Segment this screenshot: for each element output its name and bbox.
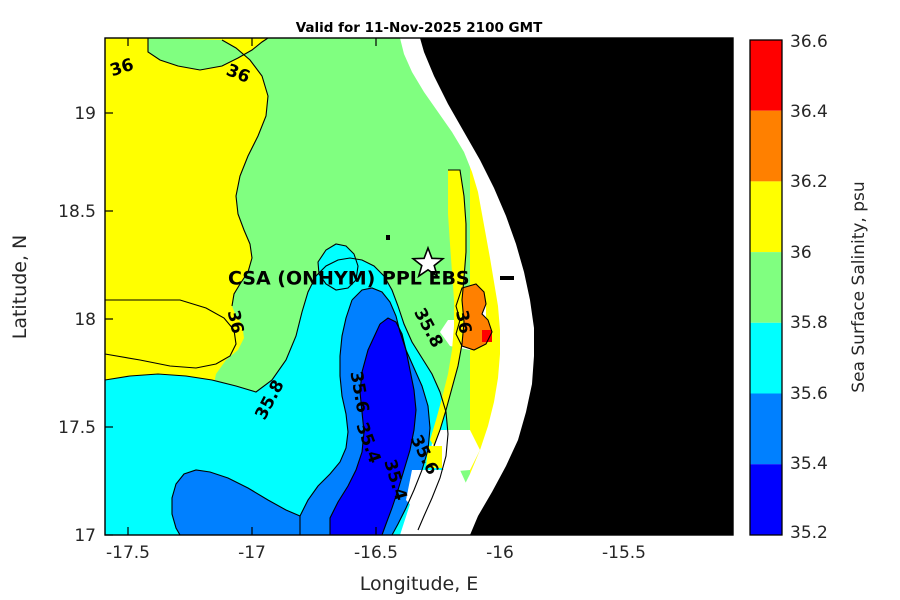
figure-root: Valid for 11-Nov-2025 2100 GMT [0, 0, 900, 600]
colorbar-swatch-0 [750, 40, 782, 111]
x-tick-label-4: -15.5 [602, 543, 646, 563]
x-tick-label-2: -16.5 [354, 543, 398, 563]
y-tick-label-4: 19 [74, 104, 96, 124]
x-axis-title: Longitude, E [360, 573, 479, 595]
colorbar-label-2: 36.2 [790, 172, 828, 192]
colorbar-label-5: 35.6 [790, 384, 828, 404]
colorbar-swatch-2 [750, 181, 782, 252]
colorbar-label-0: 36.6 [790, 32, 828, 52]
colorbar-swatch-1 [750, 111, 782, 182]
page-title: Valid for 11-Nov-2025 2100 GMT [296, 20, 543, 36]
x-tick-label-1: -17 [238, 543, 266, 563]
colorbar-label-3: 36 [790, 243, 812, 263]
colorbar-label-4: 35.8 [790, 313, 828, 333]
y-tick-label-0: 17 [74, 526, 96, 546]
colorbar-label-7: 35.2 [790, 523, 828, 543]
x-tick-label-3: -16 [486, 543, 514, 563]
y-tick-label-1: 17.5 [58, 418, 96, 438]
contour-label-36-d: 36 [451, 309, 475, 336]
colorbar-swatch-5 [750, 394, 782, 465]
colorbar-label-1: 36.4 [790, 102, 828, 122]
site-annotation-label: CSA (ONHYM) PPL EBS [228, 268, 470, 290]
site-leader-line [500, 276, 514, 280]
ssl-contour-figure: Valid for 11-Nov-2025 2100 GMT [0, 0, 900, 600]
colorbar-label-6: 35.4 [790, 454, 828, 474]
x-tick-label-0: -17.5 [106, 543, 150, 563]
site-dot-icon[interactable] [386, 235, 390, 240]
colorbar-swatch-3 [750, 252, 782, 323]
colorbar-swatch-4 [750, 323, 782, 394]
colorbar-title: Sea Surface Salinity, psu [849, 181, 869, 392]
map-panel[interactable]: 36 36 36 36 35.8 35.8 35.6 35.6 35.4 35.… [105, 38, 733, 535]
y-tick-label-3: 18.5 [58, 202, 96, 222]
y-tick-label-2: 18 [74, 310, 96, 330]
colorbar-swatch-6 [750, 464, 782, 535]
y-axis-title: Latitude, N [9, 235, 31, 340]
